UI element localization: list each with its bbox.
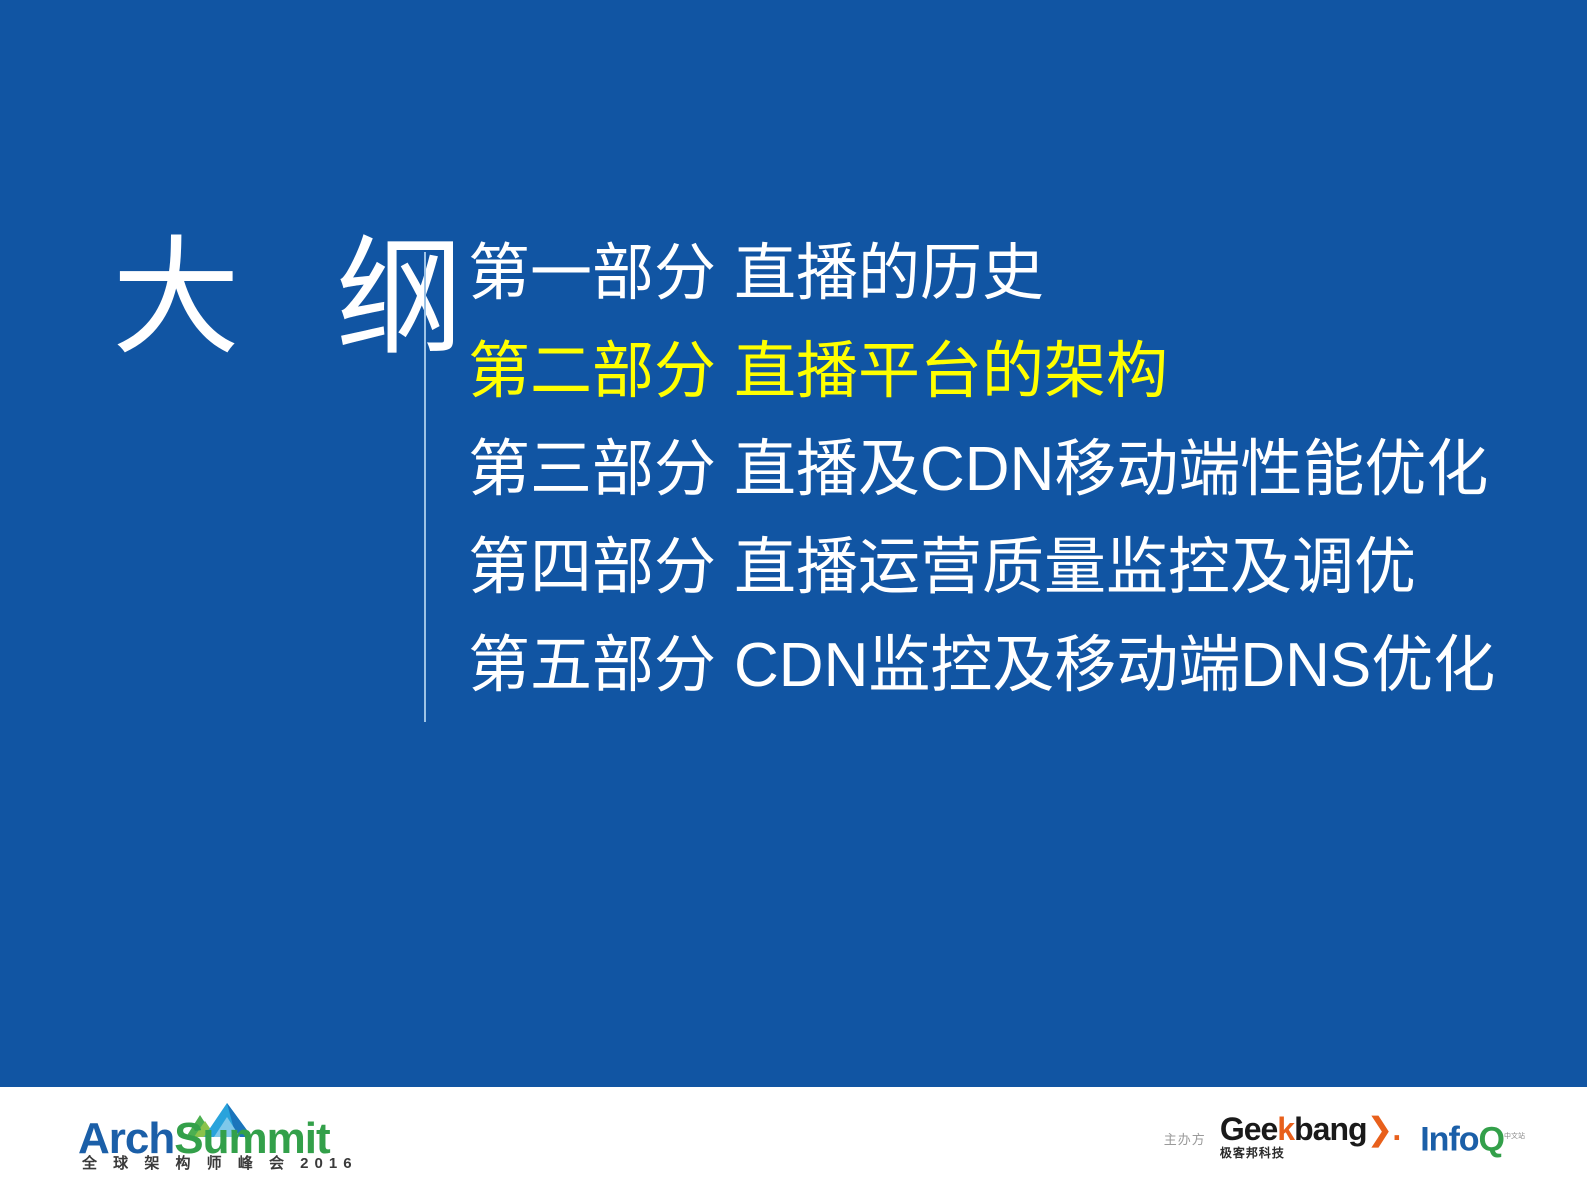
page-title: 大 纲 — [112, 232, 382, 366]
list-item-label: 直播平台的架构 — [734, 341, 1168, 403]
list-item[interactable]: 第四部分 直播运营质量监控及调优 — [468, 532, 1528, 604]
list-item-index: 第一部分 — [468, 243, 716, 305]
list-item-label: 直播运营质量监控及调优 — [734, 537, 1416, 599]
geekbang-subtitle: 极客邦科技 — [1220, 1146, 1400, 1160]
archsummit-logo: ArchSummit 全 球 架 构 师 峰 会 2016 — [78, 1101, 308, 1175]
archsummit-subtitle: 全 球 架 构 师 峰 会 2016 — [82, 1156, 358, 1172]
infoq-tiny-text: 中文站 — [1504, 1133, 1525, 1140]
infoq-logo: InfoQ中文站 — [1420, 1119, 1525, 1157]
list-item[interactable]: 第一部分 直播的历史 — [468, 238, 1528, 310]
sponsor-label: 主办方 — [1164, 1129, 1206, 1148]
chevron-right-icon: ❯. — [1367, 1111, 1401, 1147]
list-item-index: 第二部分 — [468, 341, 716, 403]
list-item-index: 第三部分 — [468, 439, 716, 501]
list-item[interactable]: 第五部分 CDN监控及移动端DNS优化 — [468, 630, 1528, 702]
list-item[interactable]: 第三部分 直播及CDN移动端性能优化 — [468, 434, 1528, 506]
list-item-label: 直播的历史 — [734, 243, 1044, 305]
outline-list: 第一部分 直播的历史 第二部分 直播平台的架构 第三部分 直播及CDN移动端性能… — [468, 238, 1528, 728]
geekbang-text-part2: bang — [1294, 1111, 1366, 1147]
sponsor-logos: 主办方 Geekbang❯. 极客邦科技 InfoQ中文站 — [1164, 1105, 1525, 1171]
presentation-slide: 大 纲 第一部分 直播的历史 第二部分 直播平台的架构 第三部分 直播及CDN移… — [0, 0, 1587, 1190]
list-item-label: CDN监控及移动端DNS优化 — [734, 635, 1495, 697]
geekbang-text-k: k — [1277, 1111, 1294, 1147]
list-item[interactable]: 第二部分 直播平台的架构 — [468, 336, 1528, 408]
geekbang-wordmark: Geekbang❯. — [1220, 1112, 1400, 1146]
slide-footer: ArchSummit 全 球 架 构 师 峰 会 2016 主办方 Geekba… — [0, 1087, 1587, 1190]
slide-content-area: 大 纲 第一部分 直播的历史 第二部分 直播平台的架构 第三部分 直播及CDN移… — [0, 0, 1587, 1087]
geekbang-text-part1: Gee — [1220, 1111, 1277, 1147]
infoq-text-info: Info — [1420, 1120, 1478, 1158]
list-item-index: 第四部分 — [468, 537, 716, 599]
list-item-label: 直播及CDN移动端性能优化 — [734, 439, 1488, 501]
vertical-divider — [424, 252, 426, 722]
infoq-text-q: Q — [1479, 1120, 1504, 1158]
list-item-index: 第五部分 — [468, 635, 716, 697]
geekbang-logo: Geekbang❯. 极客邦科技 — [1220, 1112, 1400, 1164]
